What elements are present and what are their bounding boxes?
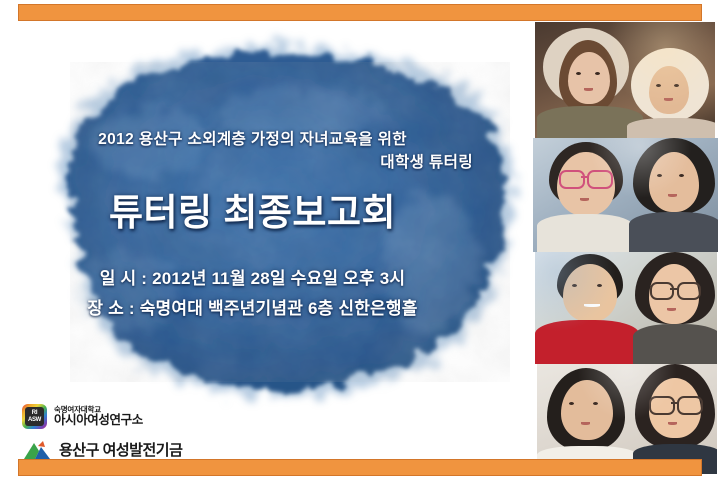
photo-tutor-and-child-fur-hoods [535, 22, 715, 138]
logo-mark-line-1: RI [32, 410, 37, 417]
sponsor-fund-name: 용산구 여성발전기금 [59, 443, 182, 459]
event-location: 장 소 : 숙명여대 백주년기념관 6층 신한은행홀 [0, 294, 505, 324]
photo-boy-red-shirt-and-tutor [535, 252, 717, 364]
rainbow-square-logo-icon: RI ASW [22, 404, 47, 429]
sponsor-logo-group: RI ASW 숙명여자대학교 아시아여성연구소 용산구 여성발전기금 [22, 401, 282, 466]
sponsor-institute-name: 아시아여성연구소 [54, 414, 143, 427]
poster-copy-block: 2012 용산구 소외계층 가정의 자녀교육을 위한 대학생 튜터링 튜터링 최… [0, 128, 505, 324]
subtitle-line-1: 2012 용산구 소외계층 가정의 자녀교육을 위한 [98, 131, 407, 148]
bottom-orange-rule [18, 459, 702, 476]
sponsor-yongsan-text: 용산구 여성발전기금 [59, 443, 182, 459]
sponsor-sookmyung-text: 숙명여자대학교 아시아여성연구소 [54, 406, 143, 428]
logo-mark-line-2: ASW [28, 417, 41, 424]
sponsor-sookmyung: RI ASW 숙명여자대학교 아시아여성연구소 [22, 401, 282, 432]
subtitle-line-2: 대학생 튜터링 [0, 151, 505, 174]
photo-child-pink-glasses-and-tutor [533, 138, 718, 252]
photo-two-girls-with-glasses [537, 364, 717, 474]
event-poster: 2012 용산구 소외계층 가정의 자녀교육을 위한 대학생 튜터링 튜터링 최… [0, 0, 720, 480]
event-subtitle: 2012 용산구 소외계층 가정의 자녀교육을 위한 대학생 튜터링 [0, 128, 505, 174]
top-orange-rule [18, 4, 702, 21]
event-details: 일 시 : 2012년 11월 28일 수요일 오후 3시 장 소 : 숙명여대… [0, 264, 505, 324]
event-main-title: 튜터링 최종보고회 [0, 190, 505, 236]
event-datetime: 일 시 : 2012년 11월 28일 수요일 오후 3시 [0, 264, 505, 294]
photo-collage-column [533, 22, 720, 459]
